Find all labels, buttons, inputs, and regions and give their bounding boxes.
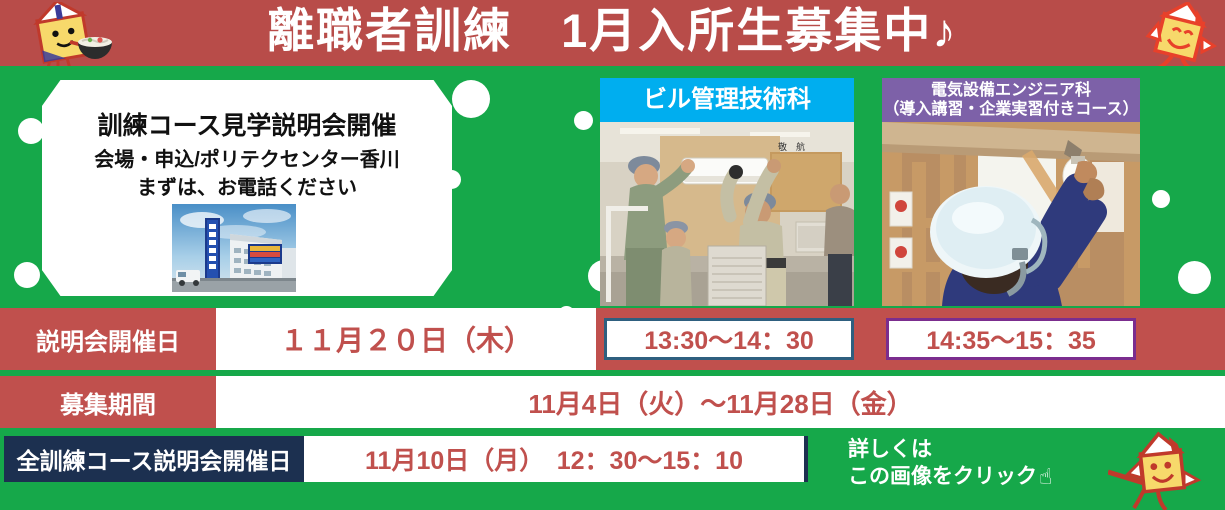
page-title: 離職者訓練 1月入所生募集中♪ — [0, 0, 1225, 66]
row-value-info-session-date: １１月２０日（木） — [216, 308, 596, 370]
info-panel-callnote: まずは、お電話ください — [42, 171, 452, 200]
cta-line-1: 詳しくは — [848, 436, 1052, 463]
row-label-all-course-session: 全訓練コース説明会開催日 — [4, 436, 304, 482]
all-course-session-bar[interactable]: 全訓練コース説明会開催日 11月10日（月） 12：30～15：10 — [4, 436, 808, 482]
row-all-course-session: 全訓練コース説明会開催日 11月10日（月） 12：30～15：10 詳しくは … — [0, 428, 1225, 510]
electrical-lighting-installation-training-photo — [882, 122, 1140, 306]
course-card-2-title-sub: （導入講習・企業実習付きコース） — [882, 100, 1140, 119]
info-session-panel: 訓練コース見学説明会開催 会場・申込/ポリテクセンター香川 まずは、お電話くださ… — [42, 80, 452, 296]
air-conditioner-installation-training-photo: 敬 航 — [600, 122, 854, 306]
waving-mascot-icon — [1142, 2, 1220, 72]
header-bar: 離職者訓練 1月入所生募集中♪ — [0, 0, 1225, 66]
course-card-1-title: ビル管理技術科 — [600, 78, 854, 122]
training-course-banner[interactable]: 離職者訓練 1月入所生募集中♪ — [0, 0, 1225, 510]
decorative-dot — [452, 80, 490, 118]
pointing-hand-icon: ☝ — [1039, 463, 1052, 490]
decorative-dot — [1152, 190, 1170, 208]
decorative-dot — [14, 262, 40, 288]
row-label-info-session-date: 説明会開催日 — [0, 308, 216, 370]
row-value-application-period: 11月4日（火）～11月28日（金） — [216, 376, 1225, 428]
decorative-dot — [18, 118, 44, 144]
info-panel-venue: 会場・申込/ポリテクセンター香川 — [42, 143, 452, 172]
row-value-all-course-session: 11月10日（月） 12：30～15：10 — [304, 436, 804, 482]
row-application-period: 募集期間 11月4日（火）～11月28日（金） — [0, 376, 1225, 428]
udon-mascot-icon — [14, 2, 120, 72]
decorative-dot — [574, 111, 593, 130]
polytech-center-kagawa-building-photo — [172, 204, 296, 292]
course-card-2-title: 電気設備エンジニア科 （導入講習・企業実習付きコース） — [882, 78, 1140, 122]
course-card-electrical-engineer[interactable]: 電気設備エンジニア科 （導入講習・企業実習付きコース） — [882, 78, 1140, 306]
time-slot-2: 14:35～15：35 — [886, 318, 1136, 360]
course-card-2-title-main: 電気設備エンジニア科 — [882, 81, 1140, 100]
cta-line-2: この画像をクリック — [848, 463, 1037, 490]
info-panel-title: 訓練コース見学説明会開催 — [42, 106, 452, 142]
cta-click-image[interactable]: 詳しくは この画像をクリック ☝ — [848, 436, 1052, 490]
row-info-session-date: 説明会開催日 １１月２０日（木） 13:30～14：30 14:35～15：35 — [0, 308, 1225, 370]
green-content-area: 訓練コース見学説明会開催 会場・申込/ポリテクセンター香川 まずは、お電話くださ… — [0, 66, 1225, 308]
decorative-dot — [1178, 261, 1211, 294]
course-card-building-management[interactable]: ビル管理技術科 敬 航 — [600, 78, 854, 306]
row-label-application-period: 募集期間 — [0, 376, 216, 428]
svg-text:敬 航: 敬 航 — [778, 141, 805, 152]
time-slot-1: 13:30～14：30 — [604, 318, 854, 360]
pointing-mascot-icon — [1108, 428, 1225, 510]
